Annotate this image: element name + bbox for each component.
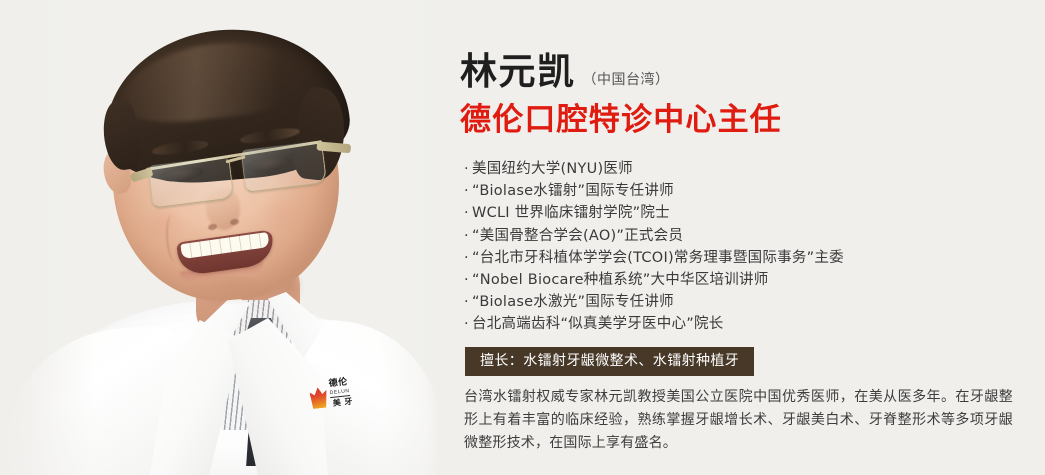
doctor-name: 林元凯 <box>460 52 576 92</box>
clinic-logo-icon: 德伦 DELUN 美 牙 <box>308 375 373 415</box>
list-item: 美国纽约大学(NYU)医师 <box>464 158 844 180</box>
list-item: “美国骨整合学会(AO)”正式会员 <box>464 225 844 247</box>
doctor-name-row: 林元凯 （中国台湾） <box>460 52 670 92</box>
photo-stage: 德伦 DELUN 美 牙 <box>0 0 440 475</box>
credentials-list: 美国纽约大学(NYU)医师 “Biolase水镭射”国际专任讲师 WCLI 世界… <box>464 158 844 336</box>
clinic-logo-name-en: DELUN <box>329 388 350 398</box>
list-item: “Nobel Biocare种植系统”大中华区培训讲师 <box>464 269 844 291</box>
list-item: WCLI 世界临床镭射学院”院士 <box>464 202 844 224</box>
flame-icon <box>309 387 328 410</box>
doctor-profile-banner: 德伦 DELUN 美 牙 林元凯 （中国台湾） 德伦口腔特诊中心主任 美国纽约大… <box>0 0 1045 475</box>
doctor-region: （中国台湾） <box>583 71 670 89</box>
eyeglass-lens-right <box>240 140 327 193</box>
doctor-bio: 台湾水镭射权威专家林元凯教授美国公立医院中国优秀医师，在美从医多年。在牙龈整形上… <box>464 386 1013 455</box>
list-item: 台北高端齿科“似真美学牙医中心”院长 <box>464 313 844 335</box>
doctor-position-title: 德伦口腔特诊中心主任 <box>460 101 782 139</box>
list-item: “Biolase水镭射”国际专任讲师 <box>464 180 844 202</box>
list-item: “台北市牙科植体学学会(TCOI)常务理事暨国际事务”主委 <box>464 247 844 269</box>
clinic-logo-subtitle-cn: 美 牙 <box>332 397 353 408</box>
list-item: “Biolase水激光”国际专任讲师 <box>464 291 844 313</box>
eyeglass-lens-left <box>148 156 235 209</box>
profile-content: 林元凯 （中国台湾） 德伦口腔特诊中心主任 美国纽约大学(NYU)医师 “Bio… <box>460 0 1045 475</box>
specialty-badge: 擅长：水镭射牙龈微整术、水镭射种植牙 <box>465 347 754 376</box>
clinic-logo-name-cn: 德伦 <box>328 377 348 389</box>
doctor-photo: 德伦 DELUN 美 牙 <box>0 0 440 475</box>
